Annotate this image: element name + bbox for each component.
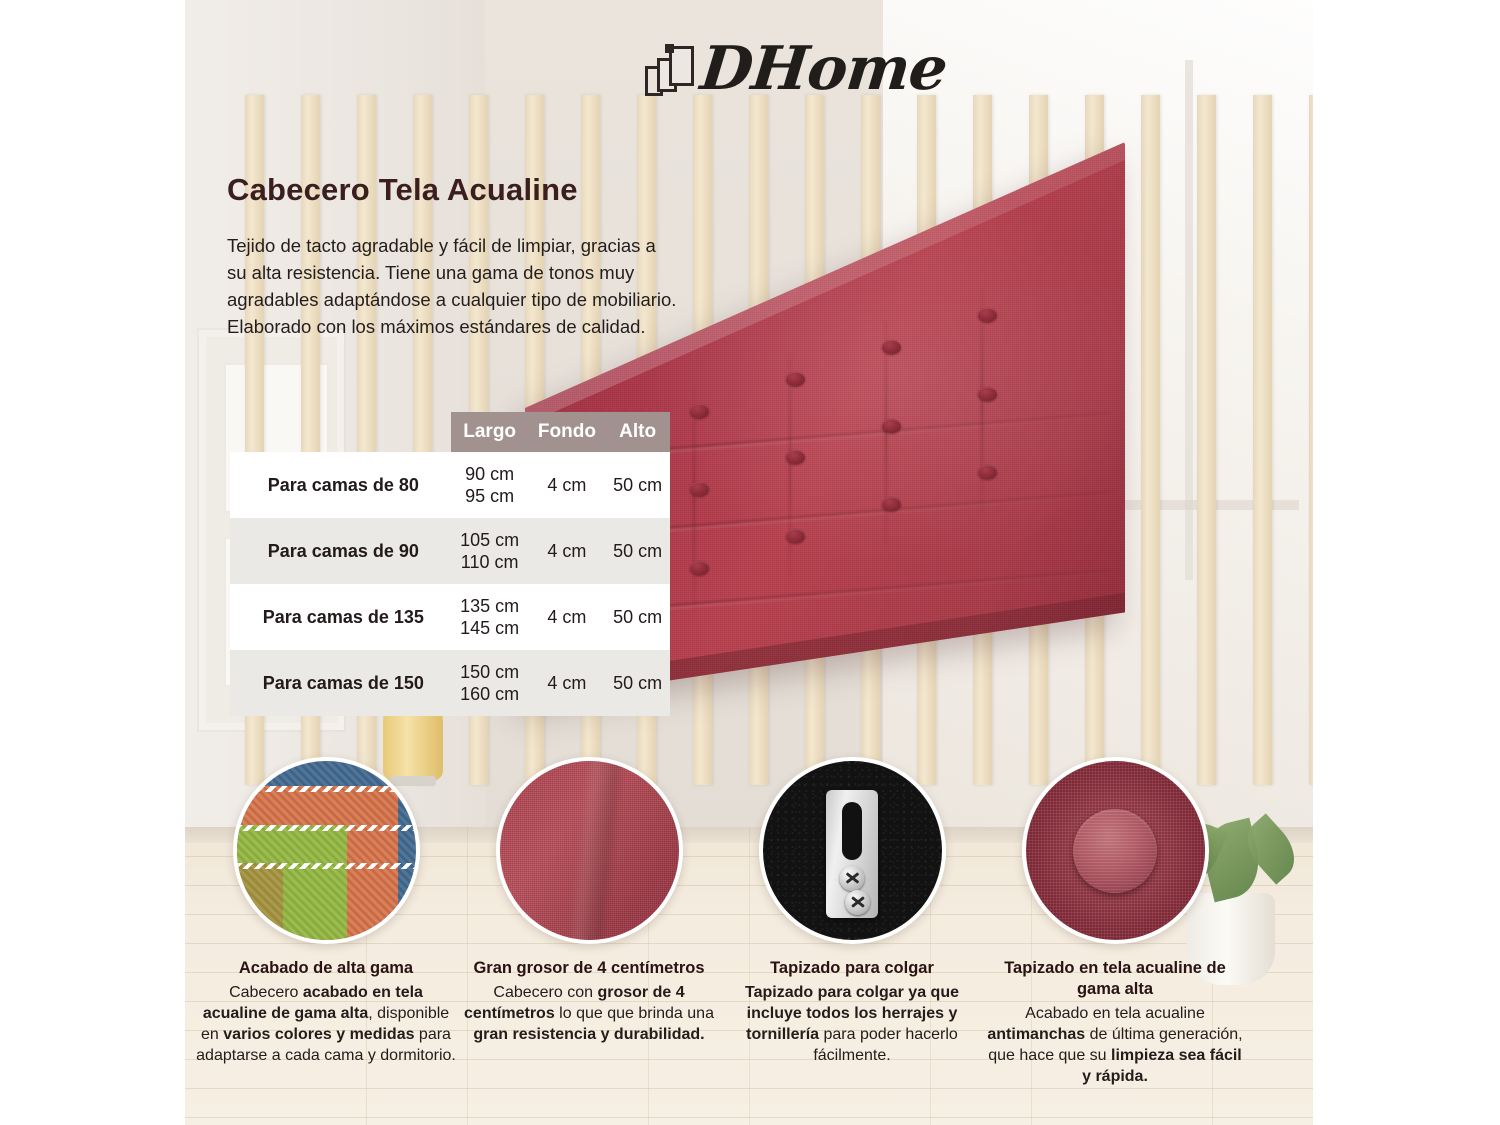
feature-title: Tapizado en tela acualine de gama alta — [984, 958, 1246, 1000]
headboard-tuft-button — [882, 419, 901, 433]
headboard-vertical-seam — [789, 353, 791, 577]
headboard-tuft-button — [978, 387, 997, 401]
headboard-tuft-button — [882, 340, 901, 354]
swatch-green-pinked-edge — [237, 825, 416, 831]
column-header-largo: Largo — [451, 412, 529, 452]
brand-logo[interactable]: DHome — [645, 34, 875, 106]
headboard-tuft-button — [882, 497, 901, 511]
headboard-vertical-seam — [981, 289, 983, 513]
cell-largo: 105 cm 110 cm — [451, 518, 529, 584]
covered-button — [1073, 809, 1157, 893]
wooden-slat — [1309, 95, 1313, 785]
cell-largo: 90 cm 95 cm — [451, 452, 529, 518]
cell-bed-size: Para camas de 80 — [230, 452, 451, 518]
metal-bracket — [826, 790, 878, 918]
bracket-keyhole-slot — [842, 802, 862, 860]
table-row: Para camas de 90105 cm 110 cm4 cm50 cm — [230, 518, 670, 584]
wooden-slat — [1197, 95, 1216, 785]
swatch-olive — [233, 863, 284, 940]
headboard-tuft-button — [690, 561, 709, 575]
column-header-alto: Alto — [605, 412, 670, 452]
feature-body-strong: varios colores y medidas — [223, 1026, 414, 1043]
headboard-tuft-button — [690, 404, 709, 418]
table-row: Para camas de 150150 cm 160 cm4 cm50 cm — [230, 650, 670, 716]
cell-alto: 50 cm — [605, 452, 670, 518]
feature-gran-grosor: Gran grosor de 4 centímetros Cabecero co… — [458, 757, 720, 1045]
cell-alto: 50 cm — [605, 584, 670, 650]
cell-alto: 50 cm — [605, 650, 670, 716]
feature-body-strong: Tapizado para colgar ya que — [745, 984, 959, 1001]
cell-fondo: 4 cm — [529, 584, 606, 650]
table-body: Para camas de 8090 cm 95 cm4 cm50 cmPara… — [230, 452, 670, 716]
feature-body-strong: antimanchas — [987, 1026, 1085, 1043]
infographic-page: DHome Cabecero Tela Acualine Tejido de t… — [0, 0, 1500, 1125]
wooden-slat — [1141, 95, 1160, 785]
logo-mark-icon — [645, 44, 697, 96]
feature-body-strong: gran resistencia y durabilidad. — [473, 1026, 704, 1043]
headboard-tuft-button — [786, 372, 805, 386]
feature-body-text: Cabecero con — [493, 984, 597, 1001]
headboard-vertical-seam — [885, 321, 887, 545]
feature-body: Acabado en tela acualine antimanchas de … — [984, 1003, 1246, 1087]
feature-title: Acabado de alta gama — [195, 958, 457, 979]
cell-bed-size: Para camas de 90 — [230, 518, 451, 584]
feature-body: Cabecero con grosor de 4 centímetros lo … — [458, 982, 720, 1045]
headboard-tuft-button — [978, 465, 997, 479]
upholstery-button-icon — [1022, 757, 1209, 944]
cell-fondo: 4 cm — [529, 518, 606, 584]
feature-body-text: Acabado en tela acualine — [1025, 1005, 1205, 1022]
feature-acabado-alta-gama: Acabado de alta gama Cabecero acabado en… — [195, 757, 457, 1066]
column-header-fondo: Fondo — [529, 412, 606, 452]
feature-title: Gran grosor de 4 centímetros — [458, 958, 720, 979]
feature-body-text: lo que que brinda una — [555, 1005, 714, 1022]
logo-text: DHome — [697, 34, 950, 104]
swatch-olive-pinked-edge — [237, 863, 416, 869]
screw-upper — [840, 866, 865, 891]
feature-body: Tapizado para colgar ya que incluye todo… — [721, 982, 983, 1066]
feature-title: Tapizado para colgar — [721, 958, 983, 979]
fabric-thickness-icon — [496, 757, 683, 944]
cell-fondo: 4 cm — [529, 650, 606, 716]
cell-largo: 150 cm 160 cm — [451, 650, 529, 716]
hanging-bracket-icon — [759, 757, 946, 944]
swatch-orange-pinked-edge — [237, 786, 416, 792]
feature-body: Cabecero acabado en tela acualine de gam… — [195, 982, 457, 1066]
feature-body-text: para poder hacerlo fácilmente. — [813, 1026, 958, 1064]
feature-body-text: Cabecero — [229, 984, 303, 1001]
screw-lower — [845, 890, 870, 915]
cell-bed-size: Para camas de 150 — [230, 650, 451, 716]
specifications-table: Largo Fondo Alto Para camas de 8090 cm 9… — [230, 412, 670, 716]
cell-largo: 135 cm 145 cm — [451, 584, 529, 650]
table-header-row: Largo Fondo Alto — [230, 412, 670, 452]
column-header-blank — [230, 412, 451, 452]
table-row: Para camas de 8090 cm 95 cm4 cm50 cm — [230, 452, 670, 518]
cell-alto: 50 cm — [605, 518, 670, 584]
table-header: Largo Fondo Alto — [230, 412, 670, 452]
fabric-swatches-icon — [233, 757, 420, 944]
cell-bed-size: Para camas de 135 — [230, 584, 451, 650]
page-title: Cabecero Tela Acualine — [227, 172, 578, 208]
table-row: Para camas de 135135 cm 145 cm4 cm50 cm — [230, 584, 670, 650]
headboard-vertical-seam — [693, 386, 695, 610]
wooden-slat — [1253, 95, 1272, 785]
product-description: Tejido de tacto agradable y fácil de lim… — [227, 232, 679, 340]
headboard-tuft-button — [786, 529, 805, 543]
logo-square-dot — [665, 44, 674, 53]
feature-tela-acualine: Tapizado en tela acualine de gama alta A… — [984, 757, 1246, 1087]
feature-tapizado-colgar: Tapizado para colgar Tapizado para colga… — [721, 757, 983, 1066]
cell-fondo: 4 cm — [529, 452, 606, 518]
